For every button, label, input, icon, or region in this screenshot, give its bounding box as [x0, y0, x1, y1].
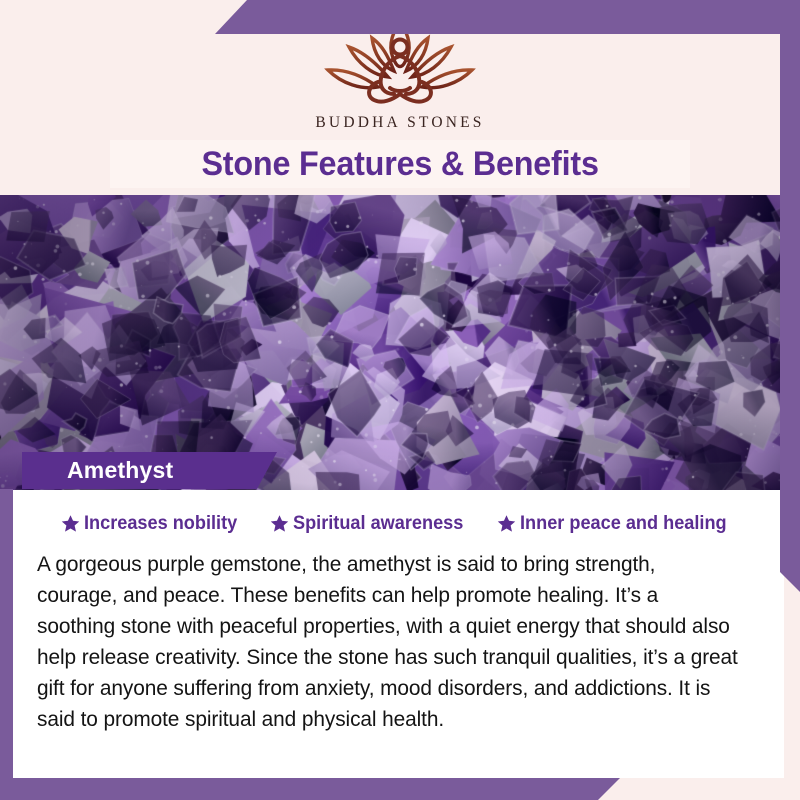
feature-item-1: Increases nobility: [61, 512, 249, 535]
page-title: Stone Features & Benefits: [201, 145, 598, 184]
star-icon: [270, 514, 289, 533]
amethyst-photo: [0, 195, 800, 490]
feature-item-2: Spiritual awareness: [270, 512, 476, 535]
frame-top-bar: [215, 0, 800, 34]
brand-name: BUDDHA STONES: [0, 114, 800, 132]
feature-item-3: Inner peace and healing: [497, 512, 742, 535]
frame-right-bar: [780, 0, 800, 592]
star-icon: [497, 514, 516, 533]
stone-description: A gorgeous purple gemstone, the amethyst…: [37, 549, 740, 735]
star-icon: [61, 514, 80, 533]
feature-label: Inner peace and healing: [520, 512, 727, 535]
stone-info-poster: BUDDHA STONES Stone Features & Benefits …: [0, 0, 800, 800]
amethyst-crystal-cluster-photo: [0, 195, 800, 490]
stone-name-banner: Amethyst: [22, 452, 277, 489]
frame-left-bar: [0, 489, 13, 800]
title-band: Stone Features & Benefits: [110, 140, 690, 188]
feature-list: Increases nobility Spiritual awareness I…: [13, 490, 784, 535]
stone-name: Amethyst: [67, 457, 173, 484]
feature-label: Spiritual awareness: [293, 512, 463, 535]
content-panel: Increases nobility Spiritual awareness I…: [13, 490, 784, 778]
feature-label: Increases nobility: [84, 512, 237, 535]
frame-bottom-bar: [0, 778, 620, 800]
